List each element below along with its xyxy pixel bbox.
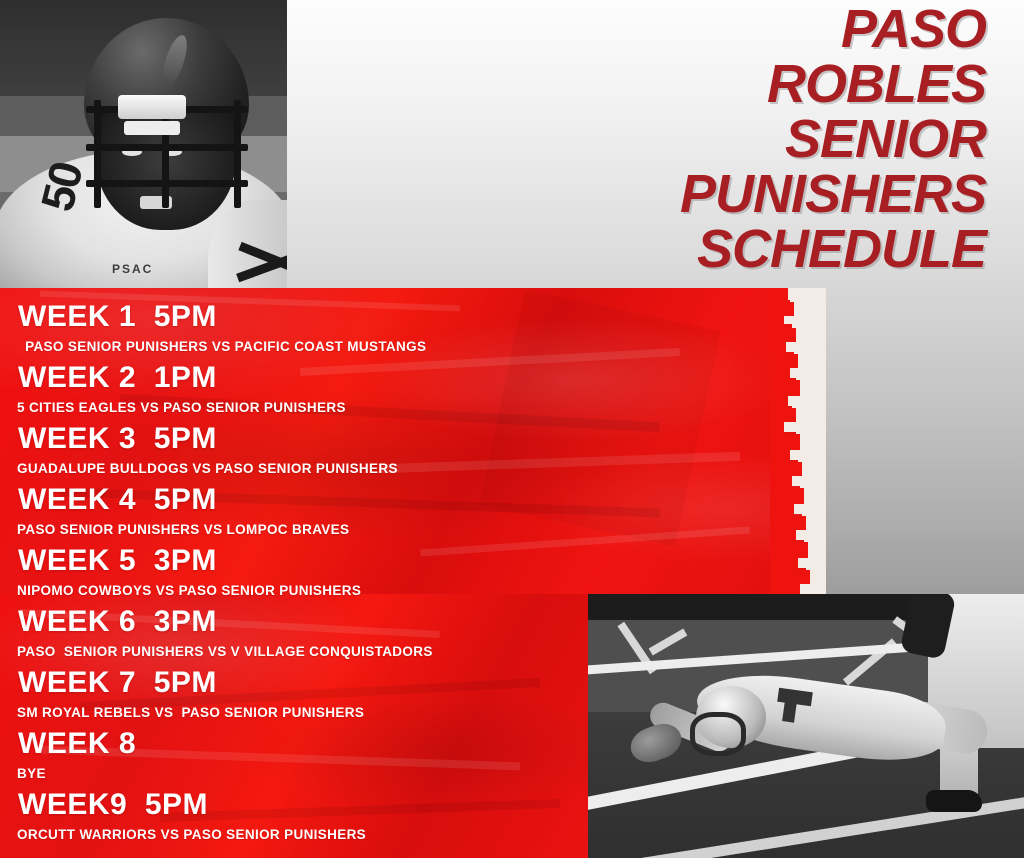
schedule-row: WEEK 2 1PM 5 CITIES EAGLES VS PASO SENIO… bbox=[0, 359, 590, 420]
jersey-logo-text: PSAC bbox=[112, 262, 153, 276]
schedule-row: WEEK 7 5PM SM ROYAL REBELS VS PASO SENIO… bbox=[0, 664, 590, 725]
schedule-row: WEEK 3 5PM GUADALUPE BULLDOGS VS PASO SE… bbox=[0, 420, 590, 481]
defender-cleat bbox=[926, 790, 982, 812]
matchup-label: ORCUTT WARRIORS VS PASO SENIOR PUNISHERS bbox=[17, 827, 366, 842]
matchup-label: SM ROYAL REBELS VS PASO SENIOR PUNISHERS bbox=[17, 705, 364, 720]
week-label: WEEK 6 3PM bbox=[18, 605, 217, 639]
headline-line-4: PUNISHERS bbox=[566, 167, 986, 222]
schedule-list: WEEK 1 5PM PASO SENIOR PUNISHERS VS PACI… bbox=[0, 288, 590, 858]
schedule-row: WEEK 5 3PM NIPOMO COWBOYS VS PASO SENIOR… bbox=[0, 542, 590, 603]
week-label: WEEK9 5PM bbox=[18, 788, 208, 822]
page-title: PASO ROBLES SENIOR PUNISHERS SCHEDULE bbox=[566, 2, 986, 277]
matchup-label: BYE bbox=[17, 766, 46, 781]
week-label: WEEK 8 bbox=[18, 727, 136, 761]
matchup-label: PASO SENIOR PUNISHERS VS V VILLAGE CONQU… bbox=[17, 644, 433, 659]
week-label: WEEK 5 3PM bbox=[18, 544, 217, 578]
headline-line-1: PASO bbox=[566, 2, 986, 57]
schedule-poster: 50 PSAC bbox=[0, 0, 1024, 858]
schedule-row: WEEK 1 5PM PASO SENIOR PUNISHERS VS PACI… bbox=[0, 298, 590, 359]
schedule-row: WEEK 4 5PM PASO SENIOR PUNISHERS VS LOMP… bbox=[0, 481, 590, 542]
helmet-photo: 50 PSAC bbox=[0, 0, 287, 288]
week-label: WEEK 4 5PM bbox=[18, 483, 217, 517]
headline-line-5: SCHEDULE bbox=[566, 222, 986, 277]
headline-line-2: ROBLES bbox=[566, 57, 986, 112]
schedule-row: WEEK 6 3PM PASO SENIOR PUNISHERS VS V VI… bbox=[0, 603, 590, 664]
matchup-label: GUADALUPE BULLDOGS VS PASO SENIOR PUNISH… bbox=[17, 461, 398, 476]
matchup-label: 5 CITIES EAGLES VS PASO SENIOR PUNISHERS bbox=[17, 400, 346, 415]
torn-paper-edge bbox=[770, 288, 826, 594]
schedule-row: WEEK9 5PM ORCUTT WARRIORS VS PASO SENIOR… bbox=[0, 786, 590, 847]
schedule-row: WEEK 8 BYE bbox=[0, 725, 590, 786]
week-label: WEEK 7 5PM bbox=[18, 666, 217, 700]
week-label: WEEK 1 5PM bbox=[18, 300, 217, 334]
week-label: WEEK 2 1PM bbox=[18, 361, 217, 395]
matchup-label: PASO SENIOR PUNISHERS VS LOMPOC BRAVES bbox=[17, 522, 349, 537]
matchup-label: PASO SENIOR PUNISHERS VS PACIFIC COAST M… bbox=[21, 339, 426, 354]
headline-line-3: SENIOR bbox=[566, 112, 986, 167]
matchup-label: NIPOMO COWBOYS VS PASO SENIOR PUNISHERS bbox=[17, 583, 361, 598]
week-label: WEEK 3 5PM bbox=[18, 422, 217, 456]
helmet-clip bbox=[118, 95, 186, 119]
